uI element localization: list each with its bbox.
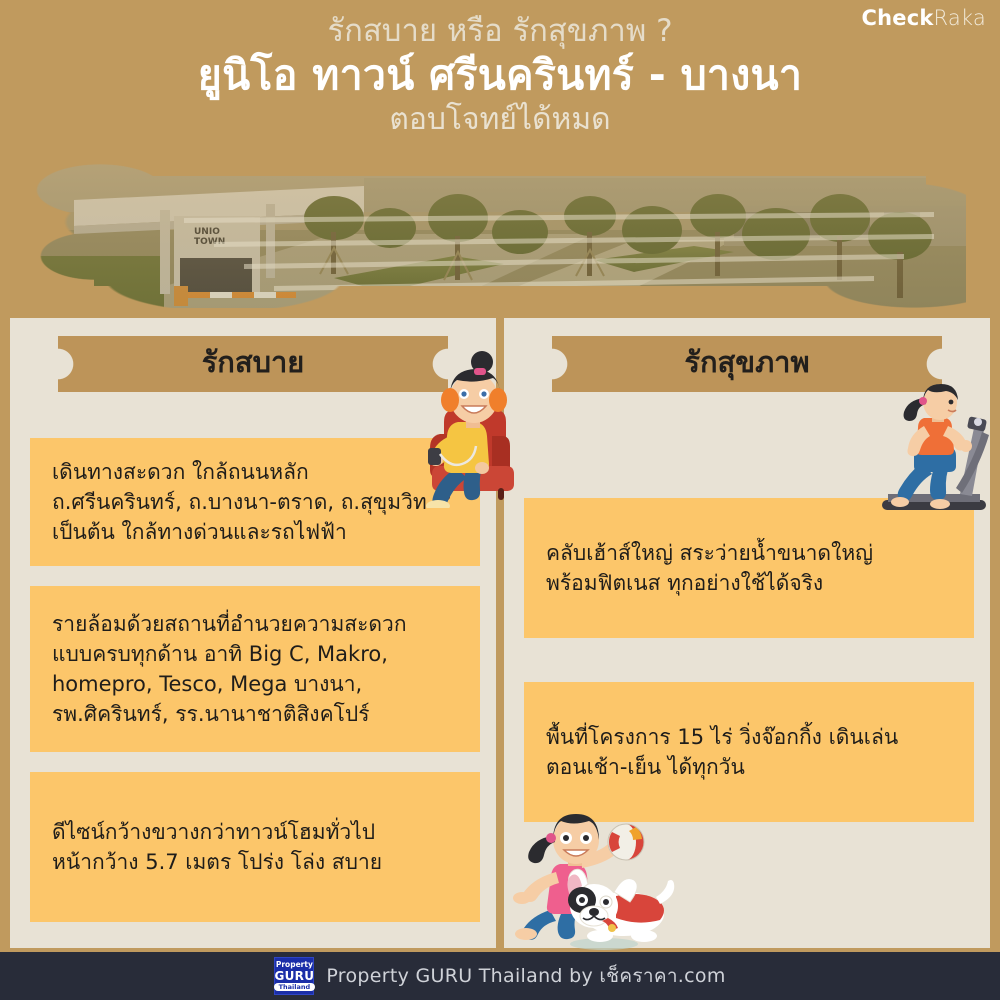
badge-property-text: Property [276,961,313,969]
health-card-2: พื้นที่โครงการ 15 ไร่ วิ่งจ๊อกกิ้ง เดินเ… [524,682,974,822]
hero-photo: UNIO TOWN [34,160,966,308]
footer-bar: Property GURU Thailand Property GURU Tha… [0,952,1000,1000]
health-card-1-text: คลับเฮ้าส์ใหญ่ สระว่ายน้ำขนาดใหญ่ พร้อมฟ… [546,538,952,598]
comfort-card-3-text: ดีไซน์กว้างขวางกว่าทาวน์โฮมทั่วไป หน้ากว… [52,817,458,877]
headline-kicker: รักสบาย หรือ รักสุขภาพ ? [0,14,1000,49]
propertyguru-logo: Property GURU Thailand [274,957,314,995]
comfort-card-2: รายล้อมด้วยสถานที่อำนวยความสะดวก แบบครบท… [30,586,480,752]
comfort-card-2-text: รายล้อมด้วยสถานที่อำนวยความสะดวก แบบครบท… [52,609,458,730]
infographic-poster: CheckRaka รักสบาย หรือ รักสุขภาพ ? ยูนิโ… [0,0,1000,1000]
health-card-1: คลับเฮ้าส์ใหญ่ สระว่ายน้ำขนาดใหญ่ พร้อมฟ… [524,498,974,638]
footer-credit: Property GURU Thailand by เช็คราคา.com [326,961,725,991]
banner-health-label: รักสุขภาพ [684,348,809,381]
headline-block: รักสบาย หรือ รักสุขภาพ ? ยูนิโอ ทาวน์ ศร… [0,14,1000,139]
banner-comfort: รักสบาย [58,336,448,392]
badge-guru-text: GURU [274,970,314,982]
comfort-card-3: ดีไซน์กว้างขวางกว่าทาวน์โฮมทั่วไป หน้ากว… [30,772,480,922]
badge-thailand-text: Thailand [274,983,316,992]
health-card-2-text: พื้นที่โครงการ 15 ไร่ วิ่งจ๊อกกิ้ง เดินเ… [546,722,952,782]
banner-comfort-label: รักสบาย [202,348,305,381]
headline-subtitle: ตอบโจทย์ได้หมด [0,101,1000,139]
headline-title: ยูนิโอ ทาวน์ ศรีนครินทร์ - บางนา [0,49,1000,101]
hero-photo-illustration: UNIO TOWN [34,160,966,308]
girl-in-armchair-icon [396,348,514,508]
girl-with-dog-icon [508,812,678,952]
treadmill-runner-icon [874,384,994,516]
